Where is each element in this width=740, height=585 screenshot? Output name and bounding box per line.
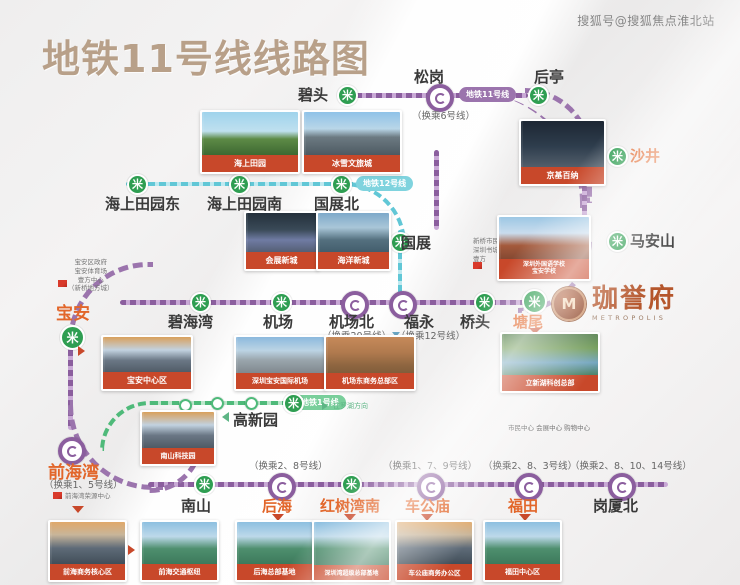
poi-card-baoan-airport[interactable]: 深圳宝安国际机场 [234,335,326,391]
brand-seal-icon: M [552,287,586,321]
poi-caption-shenzhenwan-hq: 深圳湾超级总部基地 [314,565,389,580]
poi-caption-jingji-baina: 京基百纳 [521,167,604,184]
station-label-gangxia-n: 岗厦北 [593,495,638,516]
poi-caption-waiguoyu-school: 深圳外国语学校 宝安学校 [499,259,589,279]
poi-card-waiguoyu-school[interactable]: 深圳外国语学校 宝安学校 [497,215,591,281]
poi-caption-qianhai-hub: 前海交通枢纽 [142,564,217,580]
poi-card-lixinhu[interactable]: 立新湖科创总部 [500,332,600,393]
station-transfer-houhai: （换乘2、8号线） [249,458,328,472]
watermark: 搜狐号@搜狐焦点淮北站 [556,12,736,29]
poi-caption-lixinhu: 立新湖科创总部 [502,375,598,391]
arrow-gaoxinyuan-icon [222,412,229,422]
poi-caption-baoan-airport: 深圳宝安国际机场 [236,373,324,389]
station-label-guozhan: 国展 [401,232,431,253]
brand-name-en: METROPOLIS [592,315,676,322]
station-label-shajing: 沙井 [630,145,660,166]
station-label-bihaiwan: 碧海湾 [168,311,213,332]
poi-card-chegongmiao-office[interactable]: 车公庙商务办公区 [395,520,474,582]
station-label-houting: 后亭 [534,66,564,87]
station-label-chegongmiao: 车公庙 [405,495,450,516]
poi-card-nanshan-tech[interactable]: 南山科技园 [140,410,216,466]
poi-card-jingji-baina[interactable]: 京基百纳 [519,119,606,186]
poi-caption-futian-center: 福田中心区 [485,564,560,580]
poi-caption-chegongmiao-office: 车公庙商务办公区 [397,564,472,580]
poi-caption-airport-e-hq: 机场东商务总部区 [326,373,414,389]
station-dot-gaoxinyuan[interactable]: 米 [283,393,304,414]
station-dot-guozhanbei[interactable]: 米 [331,174,352,195]
arrow-right-baoan-icon [78,346,85,356]
poi-card-huizhan-xincheng[interactable]: 会展新城 [244,211,319,271]
station-label-baoan: 宝安 [56,299,90,324]
arrow-right-luohu-icon [322,402,328,410]
direction-note-luohu: 往罗湖方向 [333,401,368,411]
station-dot-bitou[interactable]: 米 [337,85,358,106]
poi-card-haiyang-xincheng[interactable]: 海洋新城 [316,211,391,271]
station-label-maanshan: 马安山 [630,230,675,251]
station-transfer-gangxia-n: （换乘2、8、10、14号线） [570,458,692,472]
station-dot-houting[interactable]: 米 [528,85,549,106]
poi-note-qianhai: 前海湾荣源中心 [65,492,111,501]
line11-middle-segment [120,300,530,305]
station-dot-hstyd-e[interactable]: 米 [127,174,148,195]
station-dot-shajing[interactable]: 米 [607,146,628,167]
poi-card-futian-center[interactable]: 福田中心区 [483,520,562,582]
poi-card-baoan-center[interactable]: 宝安中心区 [101,335,193,391]
brand-name-cn: 珈誉府 [592,286,676,312]
poi-card-qianhai-core[interactable]: 前海商务核心区 [48,520,127,582]
station-label-nanshan: 南山 [181,495,211,516]
poi-caption-haiyang-xincheng: 海洋新城 [318,252,389,269]
poi-card-airport-e-hq[interactable]: 机场东商务总部区 [324,335,416,391]
station-label-futian: 福田 [508,495,538,516]
poi-card-haishangtianyuan[interactable]: 海上田园 [200,110,300,174]
station-dot-airport[interactable]: 米 [271,292,292,313]
station-label-airport: 机场 [263,311,293,332]
arrow-down-qianhaiwan-icon [72,506,84,513]
arrow-right-bottom-icon [128,545,135,555]
line11-bottom-segment [148,482,668,487]
poi-caption-bingxue: 冰雪文旅城 [304,155,400,172]
poi-card-bingxue[interactable]: 冰雪文旅城 [302,110,402,174]
poi-card-qianhai-hub[interactable]: 前海交通枢纽 [140,520,219,582]
poi-flag-qianhai-icon [53,492,62,499]
poi-caption-huizhan-xincheng: 会展新城 [246,252,317,269]
brand-logo[interactable]: M 珈誉府 METROPOLIS [552,286,676,322]
poi-caption-haishangtianyuan: 海上田园 [202,155,298,172]
station-label-hstyd-e: 海上田园东 [105,193,180,214]
station-label-hongshuwan-s: 红树湾南 [320,495,380,516]
station-label-songgang: 松岗 [414,66,444,87]
station-dot-maanshan[interactable]: 米 [607,231,628,252]
station-transfer-chegongmiao: （换乘1、7、9号线） [383,458,477,472]
poi-caption-houhai-hq: 后海总部基地 [237,564,312,580]
station-transfer-qianhaiwan: （换乘1、5号线） [44,477,123,491]
poi-note-futian: 市民中心 会展中心 购物中心 [508,424,590,433]
line11-right-vertical [434,150,439,230]
station-transfer-songgang: （换乘6号线） [412,108,475,122]
station-dot-hongshuwan-s[interactable]: 米 [341,474,362,495]
station-dot-qiaotou[interactable]: 米 [474,292,495,313]
poi-caption-qianhai-core: 前海商务核心区 [50,564,125,580]
page-title: 地铁11号线线路图 [42,28,370,83]
poi-card-shenzhenwan-hq[interactable]: 深圳湾超级总部基地 [312,520,391,582]
line-badge-l12: 地铁12号线 [356,176,413,191]
poi-note-baoan: 宝安区政府 宝安体育场 壹方中心 （新桥地方城） [68,258,114,293]
station-dot-bihaiwan[interactable]: 米 [190,292,211,313]
station-dot-l1-c[interactable] [211,397,224,410]
station-label-houhai: 后海 [262,495,292,516]
station-transfer-futian: （换乘2、8、3号线） [483,458,577,472]
station-label-gaoxinyuan: 高新园 [233,409,278,430]
station-label-bitou: 碧头 [298,84,328,105]
poi-flag-xinqiao-icon [473,262,482,269]
station-dot-hstyd-s[interactable]: 米 [229,174,250,195]
station-dot-nanshan[interactable]: 米 [194,474,215,495]
poi-caption-baoan-center: 宝安中心区 [103,372,191,389]
poi-caption-nanshan-tech: 南山科技园 [142,448,214,464]
poi-flag-baoan-icon [58,280,67,287]
line-badge-l11: 地铁11号线 [459,87,516,102]
poi-card-houhai-hq[interactable]: 后海总部基地 [235,520,314,582]
metro-map-poster: 搜狐号@搜狐焦点淮北站 地铁11号线线路图 地铁11号线 地铁12号线 地铁1号… [0,0,740,585]
